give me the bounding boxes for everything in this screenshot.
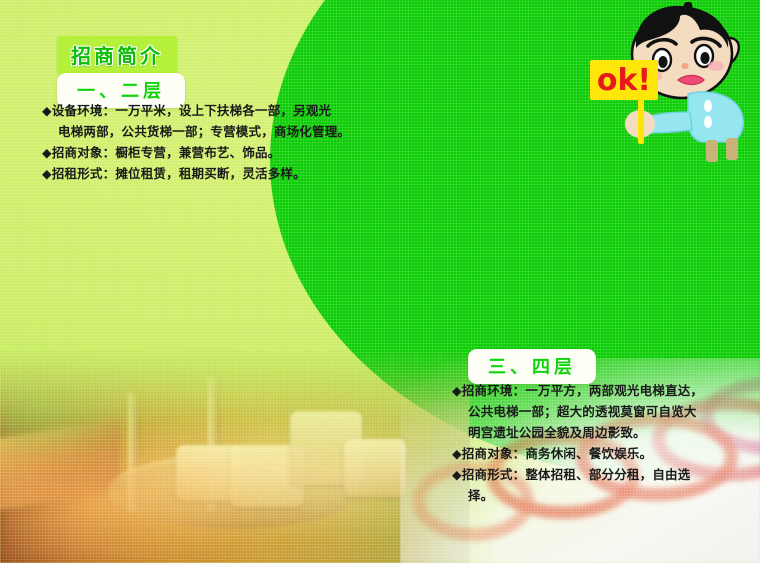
- body-line: ◆招商形式：整体招租、部分分租，自由选: [452, 464, 752, 485]
- boy-nose: [681, 63, 688, 69]
- boy-pupil-right: [700, 52, 709, 64]
- section-body-floors-1-2: ◆设备环境：一万平米，设上下扶梯各一部，另观光 电梯两部，公共货梯一部；专营模式…: [42, 100, 372, 184]
- boy-shirt: [688, 92, 744, 142]
- page-title: 招商简介: [57, 36, 177, 74]
- ok-sign-text: ok!: [597, 63, 651, 98]
- section-heading-text: 三、四层: [488, 353, 576, 379]
- poster-canvas: ok! 招商简介 一、二层 ◆设备环境：一万平米，设上下扶梯各一部，另观光 电梯…: [0, 0, 760, 563]
- boy-leg-left: [706, 140, 718, 162]
- section-heading-floors-3-4: 三、四层: [468, 349, 596, 384]
- boy-cheek-right: [708, 61, 724, 71]
- body-line: 明宫遗址公园全貌及周边影致。: [452, 422, 752, 443]
- boy-button-bottom: [704, 116, 712, 128]
- page-title-text: 招商简介: [71, 40, 163, 69]
- section-body-floors-3-4: ◆招商环境：一万平方，两部观光电梯直达， 公共电梯一部；超大的透视莫窗可自览大 …: [452, 380, 752, 506]
- boy-pupil-left: [658, 56, 667, 68]
- body-line: ◆设备环境：一万平米，设上下扶梯各一部，另观光: [42, 100, 372, 121]
- body-line: ◆招商对象：商务休闲、餐饮娱乐。: [452, 443, 752, 464]
- boy-leg-right: [726, 138, 738, 160]
- body-line: ◆招租形式：摊位租赁，租期买断，灵活多样。: [42, 163, 372, 184]
- mascot-boy-svg: ok!: [584, 2, 760, 162]
- body-line: 公共电梯一部；超大的透视莫窗可自览大: [452, 401, 752, 422]
- sign-pole: [638, 96, 644, 144]
- mascot-boy: ok!: [584, 2, 760, 162]
- body-line: ◆招商环境：一万平方，两部观光电梯直达，: [452, 380, 752, 401]
- body-line: 电梯两部，公共货梯一部；专营模式，商场化管理。: [42, 121, 372, 142]
- body-line: ◆招商对象：橱柜专营，兼营布艺、饰品。: [42, 142, 372, 163]
- body-line: 择。: [452, 485, 752, 506]
- boy-button-top: [704, 100, 712, 112]
